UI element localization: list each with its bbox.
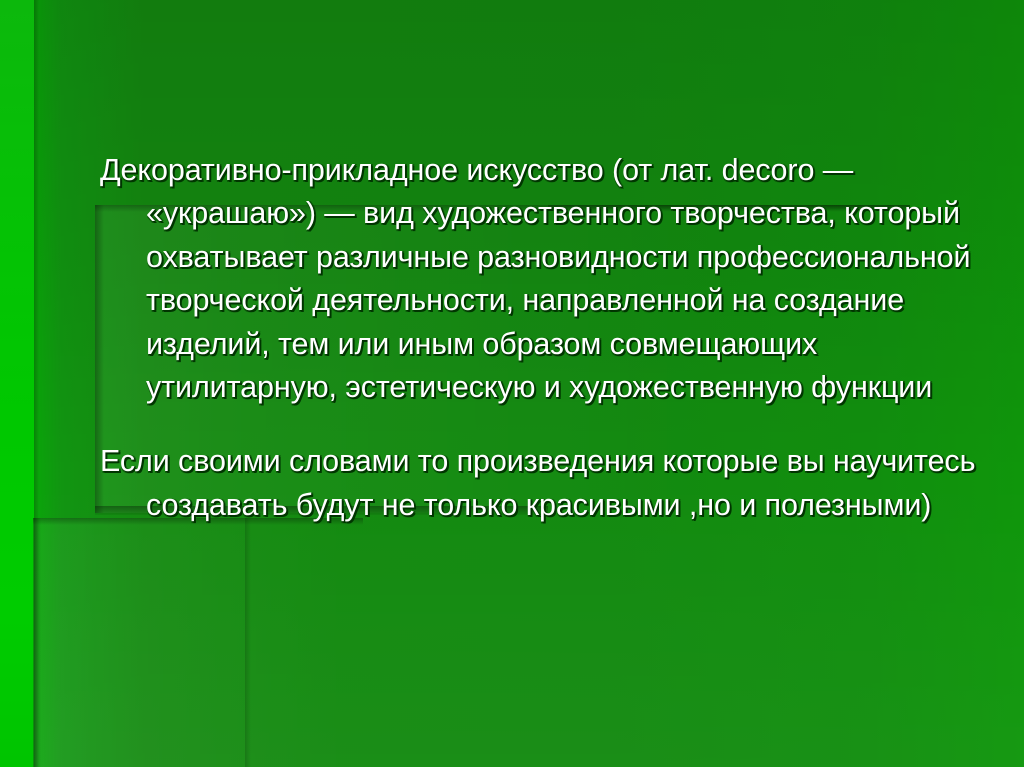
background-panel-lower-left-shadow xyxy=(33,518,41,767)
slide-paragraph-definition: Декоративно-прикладное искусство (от лат… xyxy=(100,149,980,410)
slide-body: Декоративно-прикладное искусство (от лат… xyxy=(100,118,980,558)
slide-paragraph-plain-words: Если своими словами то произведения кото… xyxy=(100,440,980,527)
presentation-slide: Декоративно-прикладное искусство (от лат… xyxy=(0,0,1024,767)
background-left-stripe xyxy=(0,0,34,767)
